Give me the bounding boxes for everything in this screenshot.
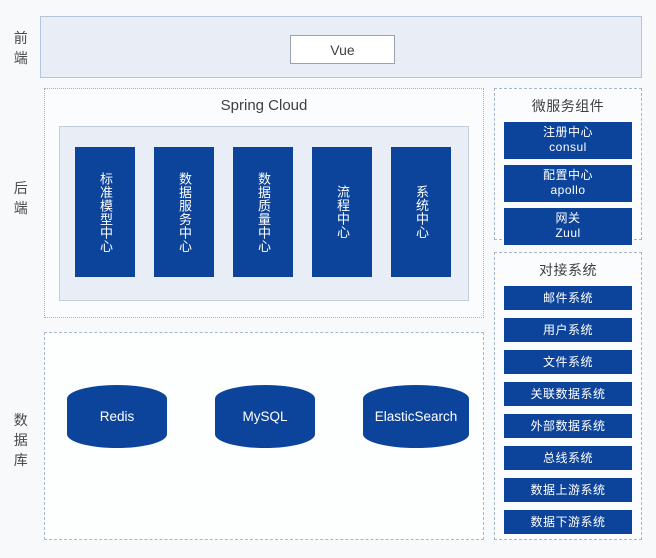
integration-item-mail-system[interactable]: 邮件系统 xyxy=(504,286,632,310)
database-panel: Redis MySQL ElasticSearch xyxy=(44,332,484,540)
integration-systems-title: 对接系统 xyxy=(495,260,641,280)
integration-item-upstream-data-system[interactable]: 数据上游系统 xyxy=(504,478,632,502)
spring-cloud-inner-panel: 标准模型中心 数据服务中心 数据质量中心 流程中心 系统中心 xyxy=(59,126,469,301)
microservice-item-registry-title: 注册中心 xyxy=(543,125,593,139)
integration-item-linked-data-system[interactable]: 关联数据系统 xyxy=(504,382,632,406)
spring-cloud-title: Spring Cloud xyxy=(45,97,483,114)
spring-cloud-panel: Spring Cloud 标准模型中心 数据服务中心 数据质量中心 流程中心 系… xyxy=(44,88,484,318)
tier-label-database: 数 据 库 xyxy=(6,410,36,470)
service-box-process-center[interactable]: 流程中心 xyxy=(312,147,372,277)
microservice-components-panel: 微服务组件 注册中心 consul 配置中心 apollo 网关 Zuul xyxy=(494,88,642,240)
tier-label-backend: 后 端 xyxy=(6,178,36,218)
microservice-item-config[interactable]: 配置中心 apollo xyxy=(504,165,632,202)
database-cylinder-mysql[interactable]: MySQL xyxy=(215,385,315,448)
microservice-item-gateway-sub: Zuul xyxy=(504,226,632,241)
service-box-data-service-center[interactable]: 数据服务中心 xyxy=(154,147,214,277)
architecture-diagram: 前 端 后 端 数 据 库 Vue Spring Cloud 标准模型中心 数据… xyxy=(0,0,656,558)
microservice-item-config-title: 配置中心 xyxy=(543,168,593,182)
microservice-item-config-sub: apollo xyxy=(504,183,632,198)
microservice-components-title: 微服务组件 xyxy=(495,96,641,116)
integration-item-external-data-system[interactable]: 外部数据系统 xyxy=(504,414,632,438)
tier-label-frontend: 前 端 xyxy=(6,28,36,68)
integration-systems-panel: 对接系统 邮件系统 用户系统 文件系统 关联数据系统 外部数据系统 总线系统 数… xyxy=(494,252,642,540)
integration-item-bus-system[interactable]: 总线系统 xyxy=(504,446,632,470)
integration-item-file-system[interactable]: 文件系统 xyxy=(504,350,632,374)
vue-box[interactable]: Vue xyxy=(290,35,395,64)
service-box-standard-model-center[interactable]: 标准模型中心 xyxy=(75,147,135,277)
service-box-data-quality-center[interactable]: 数据质量中心 xyxy=(233,147,293,277)
microservice-item-registry-sub: consul xyxy=(504,140,632,155)
integration-item-downstream-data-system[interactable]: 数据下游系统 xyxy=(504,510,632,534)
microservice-item-gateway[interactable]: 网关 Zuul xyxy=(504,208,632,245)
microservice-item-gateway-title: 网关 xyxy=(555,211,580,225)
frontend-panel: Vue xyxy=(40,16,642,78)
service-box-system-center[interactable]: 系统中心 xyxy=(391,147,451,277)
database-cylinder-elasticsearch[interactable]: ElasticSearch xyxy=(363,385,469,448)
microservice-item-registry[interactable]: 注册中心 consul xyxy=(504,122,632,159)
database-cylinder-redis[interactable]: Redis xyxy=(67,385,167,448)
integration-item-user-system[interactable]: 用户系统 xyxy=(504,318,632,342)
